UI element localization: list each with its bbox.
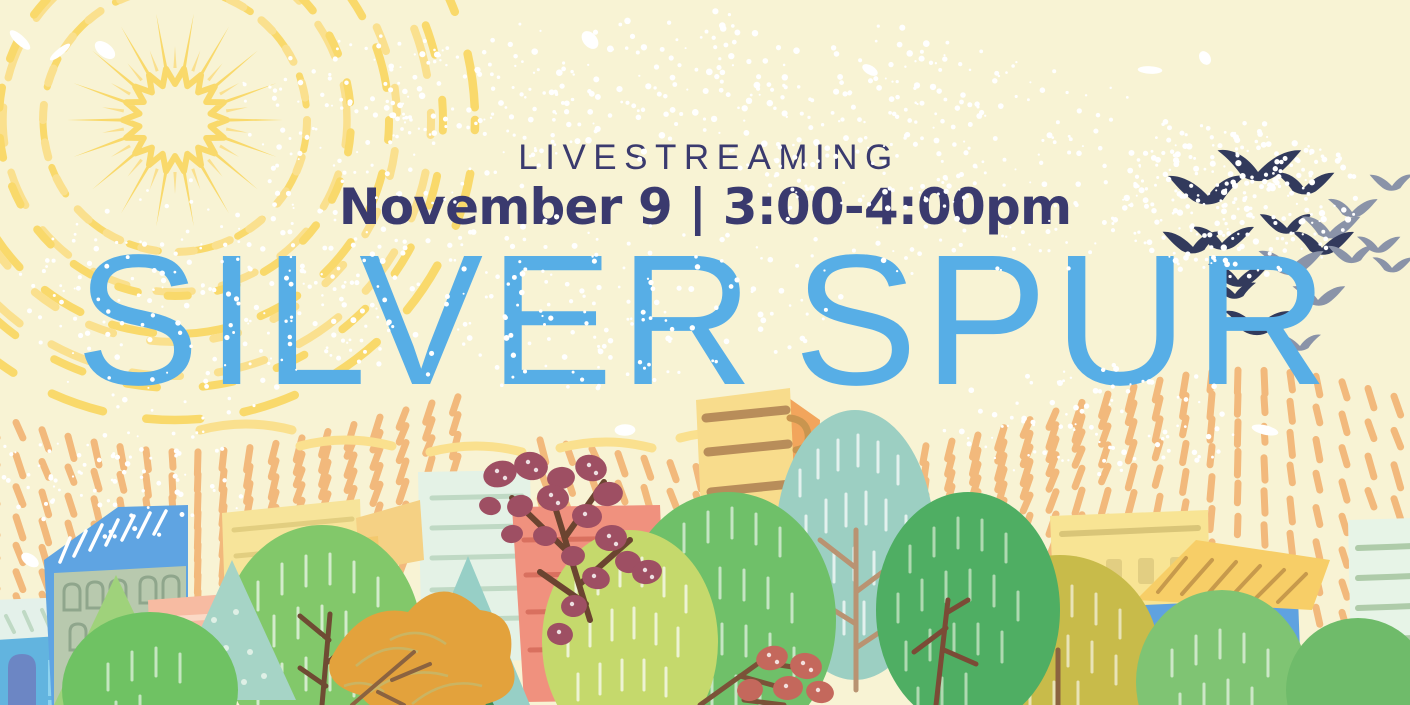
livestream-event-banner: LIVESTREAMING November 9 | 3:00-4:00pm S…	[0, 0, 1410, 705]
speckle-texture-overlay	[0, 0, 1410, 705]
